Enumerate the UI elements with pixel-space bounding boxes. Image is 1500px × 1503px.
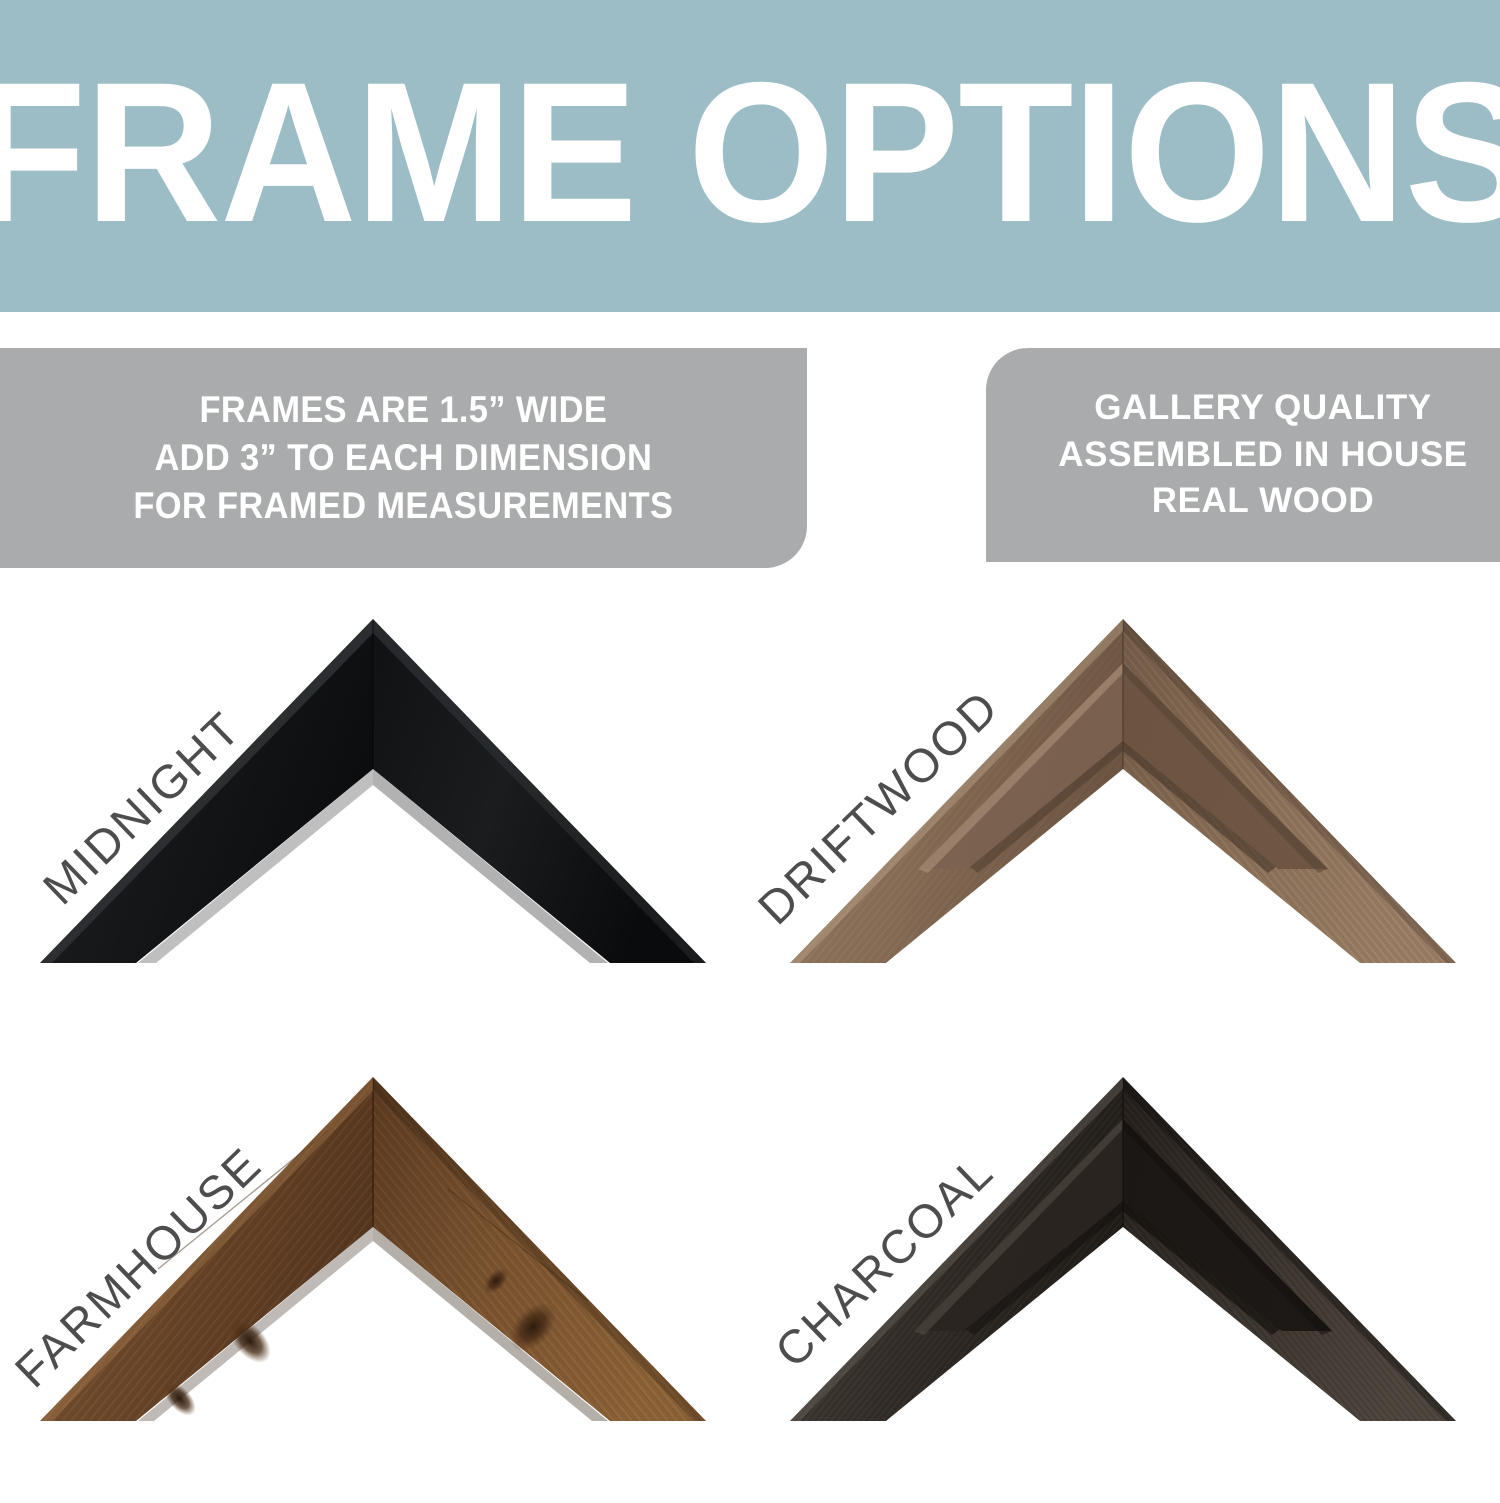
header-banner: FRAME OPTIONS	[0, 0, 1500, 312]
info-line: FRAMES ARE 1.5” WIDE	[133, 386, 673, 434]
frame-sample-grid: MIDNIGHT	[0, 585, 1500, 1500]
info-line: FOR FRAMED MEASUREMENTS	[133, 482, 673, 530]
info-box-quality-text: GALLERY QUALITY ASSEMBLED IN HOUSE REAL …	[1058, 385, 1467, 525]
frame-option-driftwood[interactable]: DRIFTWOOD	[750, 585, 1500, 1045]
page-title: FRAME OPTIONS	[0, 53, 1500, 259]
info-line: ADD 3” TO EACH DIMENSION	[133, 434, 673, 482]
info-line: GALLERY QUALITY	[1058, 385, 1467, 432]
info-box-quality: GALLERY QUALITY ASSEMBLED IN HOUSE REAL …	[986, 348, 1500, 562]
frame-option-midnight[interactable]: MIDNIGHT	[0, 585, 750, 1045]
frame-option-farmhouse[interactable]: FARMHOUSE	[0, 1043, 750, 1503]
frame-option-charcoal[interactable]: CHARCOAL	[750, 1043, 1500, 1503]
info-box-dimensions-text: FRAMES ARE 1.5” WIDE ADD 3” TO EACH DIME…	[133, 386, 673, 530]
info-line: ASSEMBLED IN HOUSE	[1058, 432, 1467, 479]
info-box-dimensions: FRAMES ARE 1.5” WIDE ADD 3” TO EACH DIME…	[0, 348, 807, 568]
info-line: REAL WOOD	[1058, 478, 1467, 525]
